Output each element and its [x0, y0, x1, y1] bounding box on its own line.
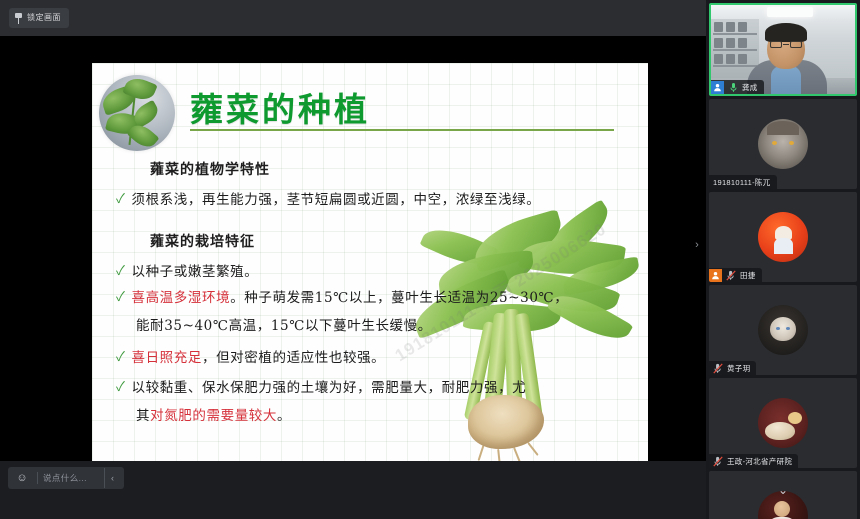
bullet-text: 。种子萌发需15℃以上，蔓叶生长适温为25~30℃，: [230, 290, 568, 306]
mic-on-icon: [727, 81, 739, 94]
bottom-bar: ☺ 说点什么... ‹: [0, 461, 706, 519]
bullet-text: 以较黏重、保水保肥力强的土壤为好，需肥量大，耐肥力强，尤: [131, 375, 526, 401]
participant-rail[interactable]: 龚成 191810111-陈兀: [706, 0, 860, 519]
bullet-item: ✓ 喜高温多湿环境。种子萌发需15℃以上，蔓叶生长适温为25~30℃，: [116, 285, 568, 311]
bullet-text-highlight: 对氮肥的需要量较大: [150, 408, 277, 424]
participant-name: 黄子玥: [727, 363, 750, 374]
chat-input-placeholder[interactable]: 说点什么...: [43, 472, 99, 484]
participant-label: 191810111-陈兀: [709, 175, 777, 189]
participant-label: 龚成: [711, 80, 764, 94]
presentation-slide: 191810111-陈雨 2025006620 蕹菜的种植 蕹菜的植物学特性 ✓…: [92, 63, 648, 461]
participant-name: 王政-河北省产研院: [727, 456, 792, 467]
chevron-right-icon[interactable]: ›: [692, 232, 702, 258]
slide-title: 蕹菜的种植: [190, 83, 370, 131]
check-icon: ✓: [116, 259, 125, 285]
bullet-continuation: 其对氮肥的需要量较大。: [116, 403, 291, 429]
emoji-smiley-icon[interactable]: ☺: [12, 468, 32, 488]
ceiling-light: [767, 7, 813, 17]
shared-screen-stage[interactable]: 191810111-陈雨 2025006620 蕹菜的种植 蕹菜的植物学特性 ✓…: [0, 36, 706, 461]
screen-lock-badge[interactable]: 锁定画面: [9, 8, 69, 28]
bullet-text-highlight: 喜日照充足: [131, 350, 202, 366]
top-bar: 锁定画面: [0, 0, 706, 36]
avatar: [758, 119, 808, 169]
divider: [37, 472, 38, 484]
participant-tile[interactable]: 王政-河北省产研院: [709, 378, 857, 468]
pin-icon: [15, 13, 22, 24]
person-hair: [765, 23, 807, 42]
bullet-text: ，但对密植的适应性也较强。: [202, 350, 385, 366]
slide-content: 蕹菜的种植 蕹菜的植物学特性 ✓ 须根系浅，再生能力强，茎节短扁圆或近圆，中空，…: [92, 63, 648, 461]
avatar: [758, 305, 808, 355]
participant-label: 田捷: [709, 268, 762, 282]
avatar: [758, 212, 808, 262]
bullet-text: 。: [277, 408, 291, 424]
participant-label: 黄子玥: [709, 361, 756, 375]
avatar: [758, 398, 808, 448]
glasses-icon: [770, 41, 802, 48]
check-icon: ✓: [116, 345, 125, 371]
bullet-item: ✓ 喜日照充足，但对密植的适应性也较强。: [116, 345, 385, 371]
chevron-down-icon[interactable]: ⌄: [778, 483, 788, 497]
mic-muted-icon: [712, 455, 724, 468]
bullet-continuation: 能耐35~40℃高温，15℃以下蔓叶生长缓慢。: [116, 313, 432, 339]
check-icon: ✓: [116, 375, 125, 401]
screen-lock-label: 锁定画面: [27, 14, 61, 22]
bullet-text: 须根系浅，再生能力强，茎节短扁圆或近圆，中空，浓绿至浅绿。: [131, 187, 540, 213]
participant-tile[interactable]: 191810111-陈兀: [709, 99, 857, 189]
person-shirt: [771, 66, 801, 94]
mic-muted-icon: [725, 269, 737, 282]
participant-name: 191810111-陈兀: [713, 177, 771, 188]
participant-tile[interactable]: 黄子玥: [709, 285, 857, 375]
mic-muted-icon: [712, 362, 724, 375]
participant-tile-speaking[interactable]: 龚成: [709, 3, 857, 96]
check-icon: ✓: [116, 285, 125, 311]
section-heading-1: 蕹菜的植物学特性: [150, 159, 270, 179]
chevron-left-icon[interactable]: ‹: [104, 468, 120, 488]
title-underline: [190, 129, 614, 131]
cohost-person-icon: [709, 269, 722, 282]
bullet-text: 以种子或嫩茎繁殖。: [131, 259, 258, 285]
section-heading-2: 蕹菜的栽培特征: [150, 231, 255, 251]
participant-label: 王政-河北省产研院: [709, 454, 798, 468]
bullet-item: ✓ 以种子或嫩茎繁殖。: [116, 259, 258, 285]
meeting-window: 锁定画面: [0, 0, 860, 519]
host-person-icon: [711, 81, 724, 94]
bullet-text: 能耐35~40℃高温，15℃以下蔓叶生长缓慢。: [136, 313, 432, 339]
participant-tile[interactable]: 田捷: [709, 192, 857, 282]
bullet-text-highlight: 喜高温多湿环境: [131, 290, 230, 306]
participant-name: 龚成: [742, 82, 758, 93]
check-icon: ✓: [116, 187, 125, 213]
participant-name: 田捷: [740, 270, 756, 281]
bullet-item: ✓ 以较黏重、保水保肥力强的土壤为好，需肥量大，耐肥力强，尤: [116, 375, 526, 401]
chat-input-bar[interactable]: ☺ 说点什么... ‹: [8, 467, 124, 489]
bullet-text: 其: [136, 408, 150, 424]
bullet-item: ✓ 须根系浅，再生能力强，茎节短扁圆或近圆，中空，浓绿至浅绿。: [116, 187, 540, 213]
